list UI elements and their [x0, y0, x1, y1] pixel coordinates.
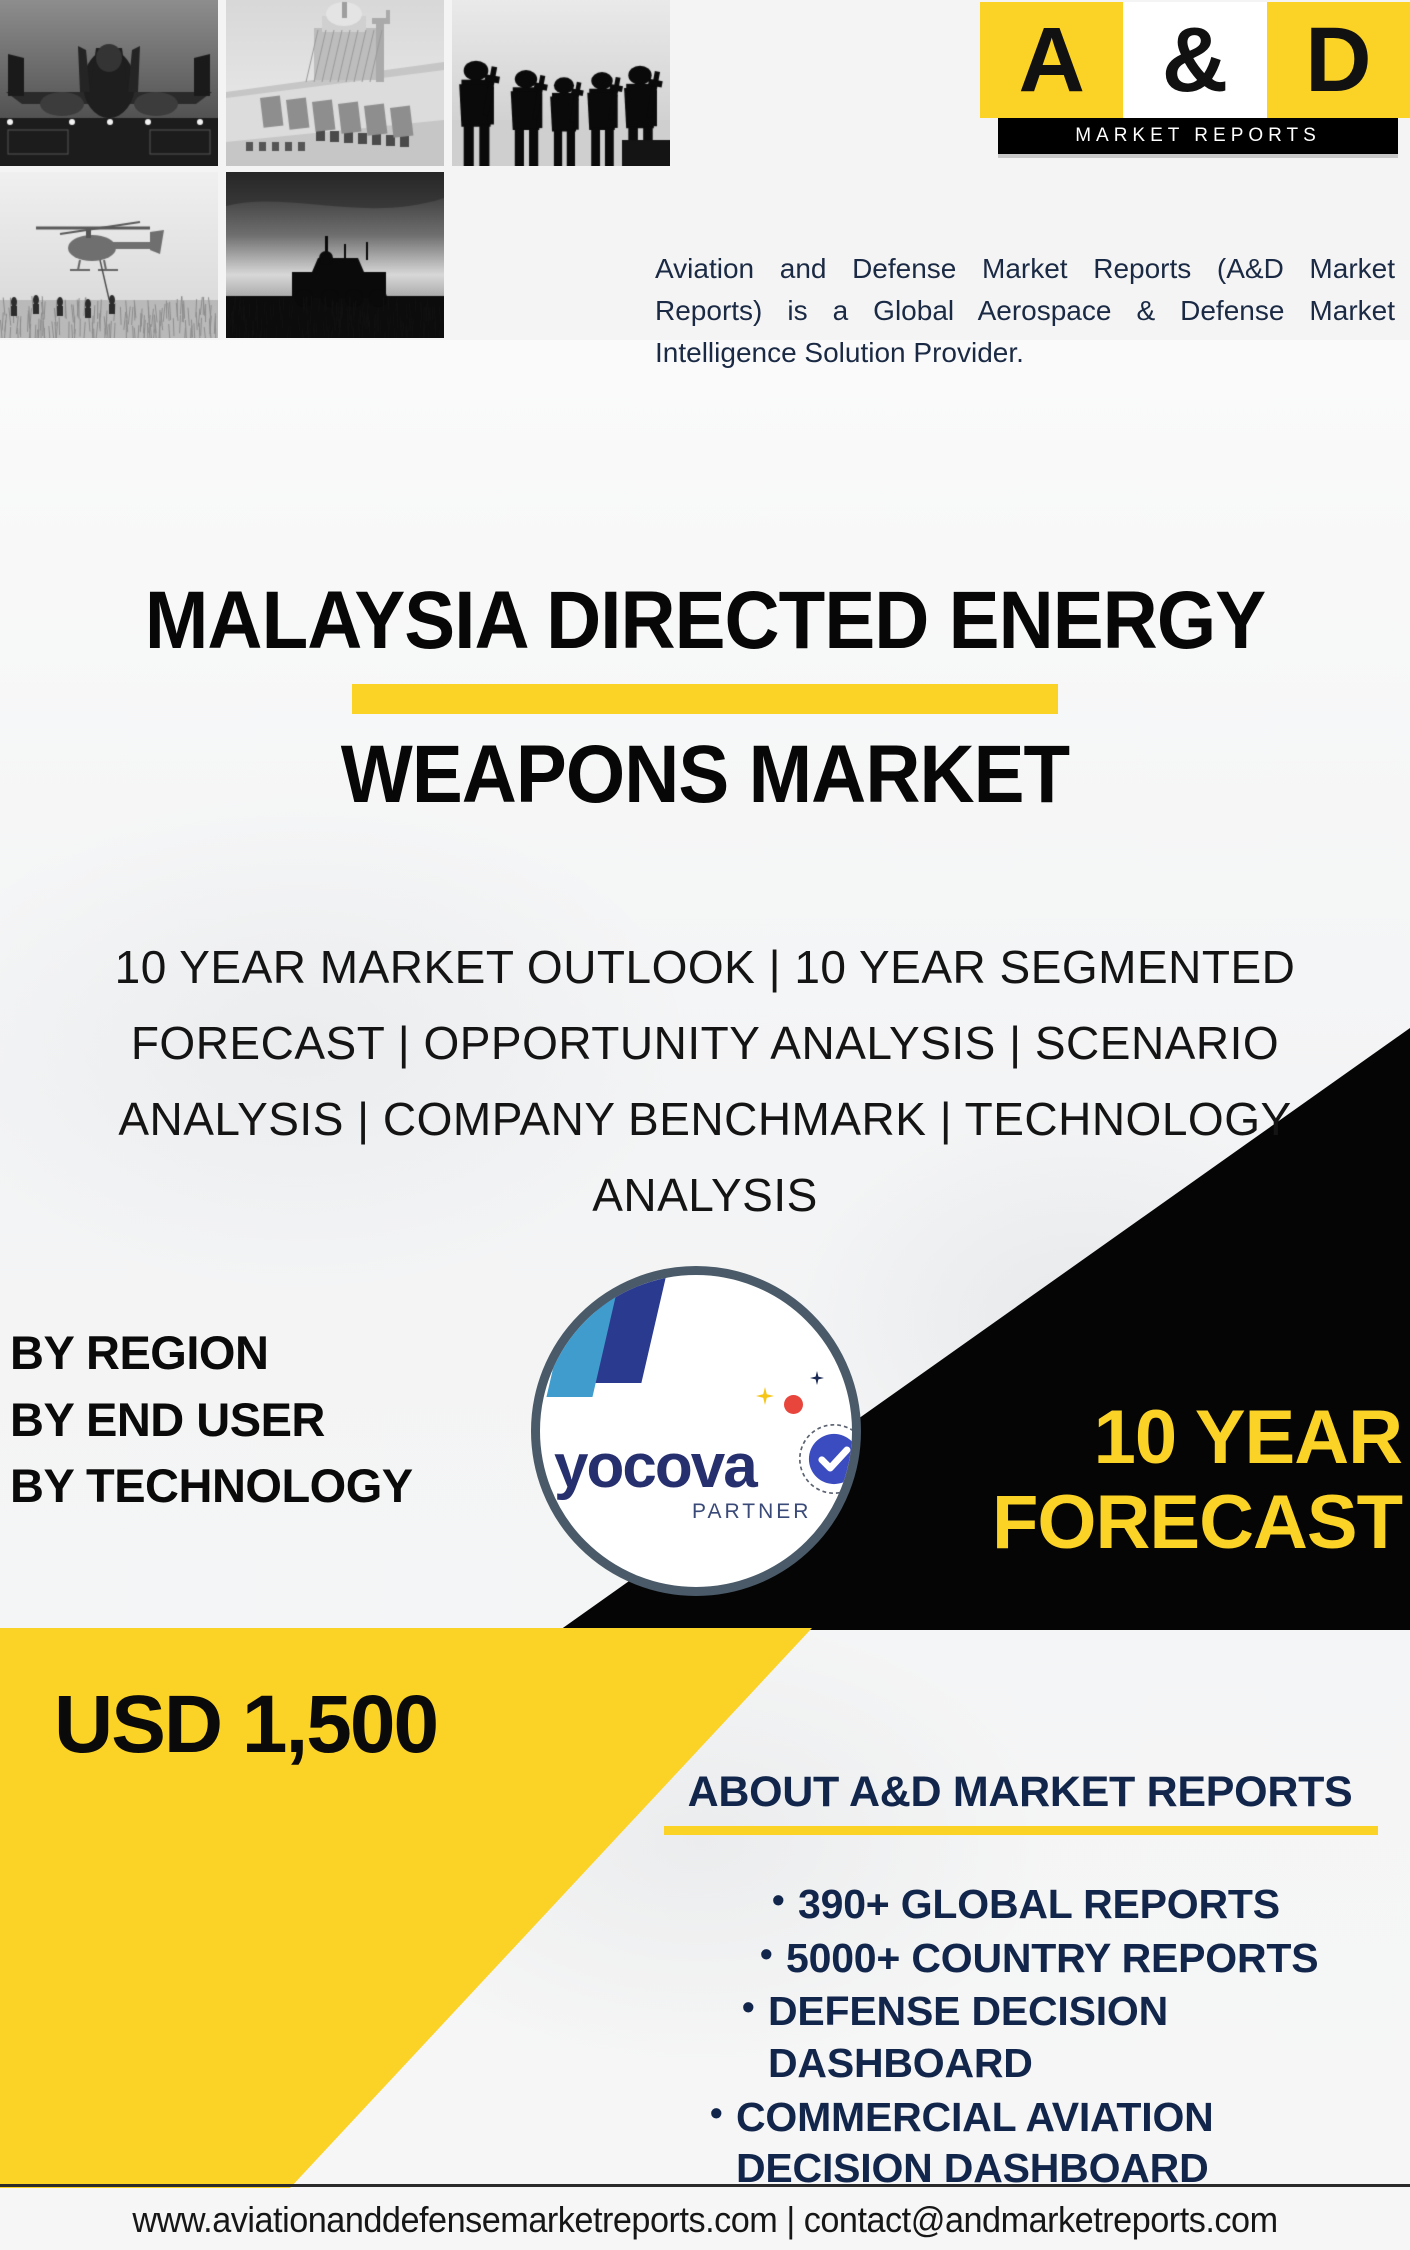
forecast-callout: 10 YEAR FORECAST [650, 1395, 1410, 1565]
photo-helicopter [0, 172, 218, 338]
about-heading: ABOUT A&D MARKET REPORTS [650, 1768, 1390, 1817]
photo-warship [226, 0, 444, 166]
logo-letter-d: D [1267, 2, 1410, 118]
logo-market-reports-bar: MARKET REPORTS [998, 118, 1398, 154]
logo-bar-shadow [998, 154, 1398, 158]
segmentation-item-region: BY REGION [10, 1320, 530, 1387]
photo-fighter-jet [0, 0, 218, 166]
photo-soldiers [452, 0, 670, 166]
price-value: USD 1,500 [54, 1678, 437, 1772]
photo-strip [0, 0, 672, 340]
logo-letters: A & D [980, 2, 1410, 118]
logo-ampersand: & [1123, 2, 1266, 118]
footer-divider [0, 2184, 1410, 2187]
sparkle-navy-icon [810, 1371, 824, 1385]
title-line-2: WEAPONS MARKET [49, 734, 1360, 816]
about-bullet-aviation-dashboard: COMMERCIAL AVIATION DECISION DASHBOARD [696, 2092, 1390, 2195]
forecast-line-2: FORECAST [650, 1480, 1402, 1565]
logo-letter-a: A [980, 2, 1123, 118]
footer-contact: www.aviationanddefensemarketreports.com … [35, 2190, 1375, 2250]
report-scope-subtitle: 10 YEAR MARKET OUTLOOK | 10 YEAR SEGMENT… [40, 930, 1370, 1234]
about-bullet-country-reports: 5000+ COUNTRY REPORTS [746, 1933, 1390, 1985]
about-section: ABOUT A&D MARKET REPORTS 390+ GLOBAL REP… [650, 1768, 1390, 2197]
company-intro-paragraph: Aviation and Defense Market Reports (A&D… [655, 248, 1395, 374]
title-underline-rule [352, 684, 1058, 714]
segmentation-item-end-user: BY END USER [10, 1387, 530, 1454]
segmentation-list: BY REGION BY END USER BY TECHNOLOGY [10, 1320, 530, 1520]
title-line-1: MALAYSIA DIRECTED ENERGY [49, 580, 1360, 662]
photo-armored-vehicle [226, 172, 444, 338]
about-bullet-global-reports: 390+ GLOBAL REPORTS [758, 1879, 1390, 1931]
brand-logo: A & D MARKET REPORTS [980, 0, 1410, 168]
forecast-line-1: 10 YEAR [650, 1395, 1402, 1480]
segmentation-item-technology: BY TECHNOLOGY [10, 1453, 530, 1520]
page-title: MALAYSIA DIRECTED ENERGY WEAPONS MARKET [0, 580, 1410, 816]
about-bullet-list: 390+ GLOBAL REPORTS 5000+ COUNTRY REPORT… [650, 1879, 1390, 2195]
about-bullet-defense-dashboard: DEFENSE DECISION DASHBOARD [728, 1986, 1390, 2089]
about-underline-rule [664, 1826, 1378, 1835]
